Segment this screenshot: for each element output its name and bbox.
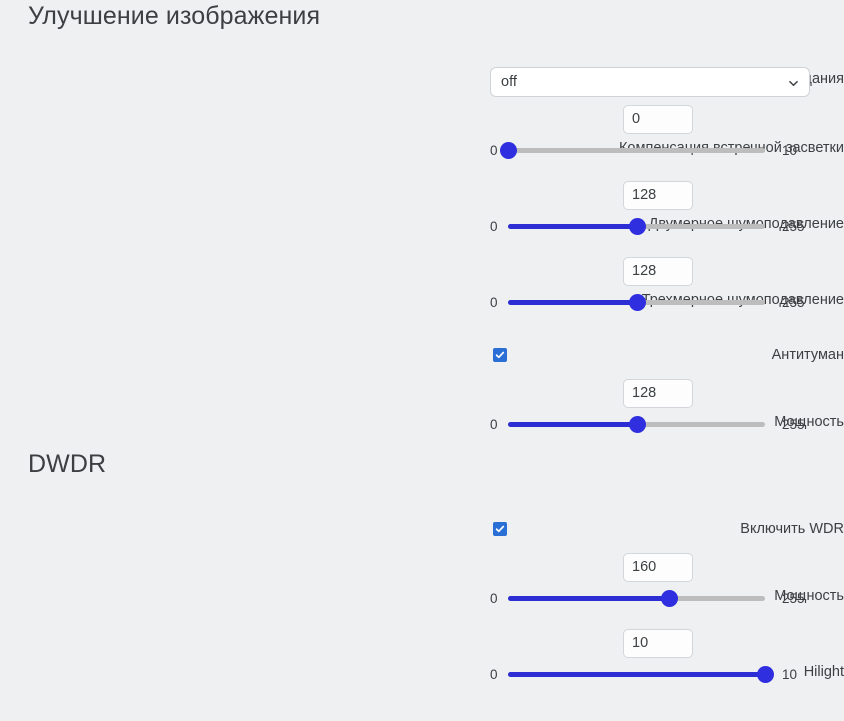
slider-thumb[interactable] bbox=[629, 218, 646, 235]
slider-track-fill bbox=[508, 672, 765, 677]
slider-thumb[interactable] bbox=[500, 142, 517, 159]
slider-track[interactable] bbox=[508, 596, 765, 601]
label-enable-wdr: Включить WDR bbox=[374, 522, 844, 537]
slider-min-label: 0 bbox=[490, 667, 498, 683]
slider-thumb[interactable] bbox=[629, 416, 646, 433]
defog-strength-slider[interactable]: 0 255 bbox=[490, 415, 810, 435]
slider-track[interactable] bbox=[508, 224, 765, 229]
section-heading-image-enhancement: Улучшение изображения bbox=[28, 2, 320, 31]
slider-max-label: 10 bbox=[782, 143, 797, 159]
section-heading-dwdr: DWDR bbox=[28, 450, 106, 479]
backlight-compensation-value-input[interactable]: 0 bbox=[623, 105, 693, 134]
wdr-hilight-slider[interactable]: 0 10 bbox=[490, 665, 810, 685]
chevron-down-icon bbox=[789, 79, 798, 88]
enable-wdr-checkbox[interactable] bbox=[493, 522, 507, 536]
slider-max-label: 255 bbox=[782, 591, 805, 607]
slider-thumb[interactable] bbox=[757, 666, 774, 683]
flicker-suppression-select-wrap[interactable]: off bbox=[490, 67, 810, 97]
slider-max-label: 10 bbox=[782, 667, 797, 683]
slider-thumb[interactable] bbox=[661, 590, 678, 607]
defog-strength-value-input[interactable]: 128 bbox=[623, 379, 693, 408]
slider-track[interactable] bbox=[508, 148, 765, 153]
slider-max-label: 255 bbox=[782, 219, 805, 235]
slider-min-label: 0 bbox=[490, 219, 498, 235]
wdr-strength-value-input[interactable]: 160 bbox=[623, 553, 693, 582]
flicker-suppression-select[interactable]: off bbox=[490, 67, 810, 97]
slider-track-fill bbox=[508, 224, 637, 229]
wdr-strength-slider[interactable]: 0 255 bbox=[490, 589, 810, 609]
slider-min-label: 0 bbox=[490, 143, 498, 159]
slider-min-label: 0 bbox=[490, 591, 498, 607]
slider-max-label: 255 bbox=[782, 417, 805, 433]
noise-reduction-3d-slider[interactable]: 0 255 bbox=[490, 293, 810, 313]
wdr-hilight-value-input[interactable]: 10 bbox=[623, 629, 693, 658]
slider-track-fill bbox=[508, 422, 637, 427]
backlight-compensation-slider[interactable]: 0 10 bbox=[490, 141, 810, 161]
slider-track[interactable] bbox=[508, 300, 765, 305]
label-defog: Антитуман bbox=[374, 348, 844, 363]
settings-page: Улучшение изображения Подавление мерцани… bbox=[0, 0, 844, 721]
flicker-suppression-selected-value: off bbox=[501, 74, 517, 90]
slider-track-fill bbox=[508, 300, 637, 305]
noise-reduction-2d-value-input[interactable]: 128 bbox=[623, 181, 693, 210]
slider-min-label: 0 bbox=[490, 295, 498, 311]
slider-track[interactable] bbox=[508, 672, 765, 677]
slider-track[interactable] bbox=[508, 422, 765, 427]
noise-reduction-2d-slider[interactable]: 0 255 bbox=[490, 217, 810, 237]
slider-min-label: 0 bbox=[490, 417, 498, 433]
slider-thumb[interactable] bbox=[629, 294, 646, 311]
defog-checkbox[interactable] bbox=[493, 348, 507, 362]
slider-max-label: 255 bbox=[782, 295, 805, 311]
slider-track-fill bbox=[508, 596, 669, 601]
noise-reduction-3d-value-input[interactable]: 128 bbox=[623, 257, 693, 286]
